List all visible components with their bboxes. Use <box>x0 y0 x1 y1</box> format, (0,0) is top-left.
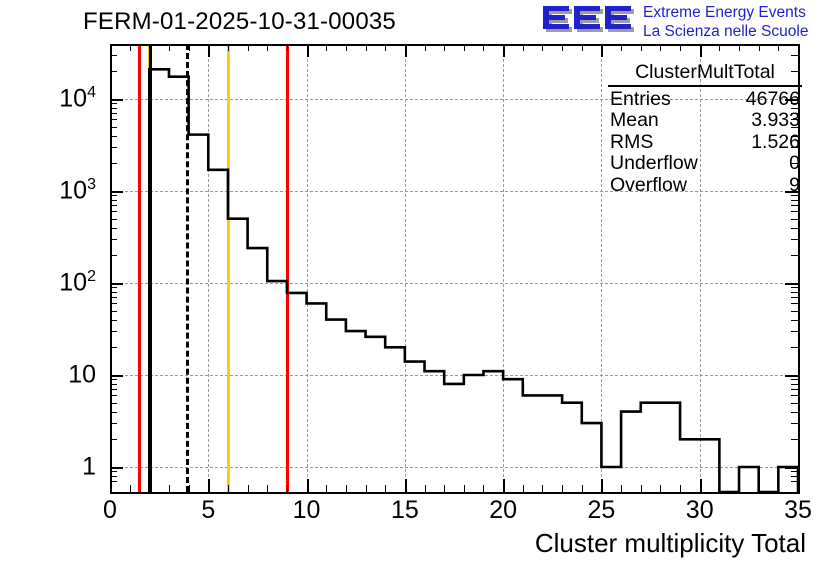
x-tick-top-minor <box>248 44 249 51</box>
x-tick-top-minor <box>778 44 779 51</box>
y-tick-minor <box>110 311 117 312</box>
y-tick-major <box>110 375 123 377</box>
y-tick-right-minor <box>791 481 798 482</box>
stats-value: 9 <box>789 175 800 197</box>
y-tick-right-minor <box>791 320 798 321</box>
x-tick-minor <box>267 485 268 492</box>
x-tick-top-minor <box>582 44 583 51</box>
root-canvas: FERM-01-2025-10-31-00035 <box>0 0 836 572</box>
y-tick-minor <box>110 205 117 206</box>
y-tick-right-minor <box>791 200 798 201</box>
axis-left <box>110 44 112 494</box>
y-tick-major <box>110 191 123 193</box>
eee-logo-line1: Extreme Energy Events <box>643 3 808 22</box>
eee-mark-icon <box>541 2 637 38</box>
y-tick-minor <box>110 147 117 148</box>
x-tick-top-minor <box>346 44 347 51</box>
x-tick-top-minor <box>641 44 642 51</box>
x-tick-minor <box>169 485 170 492</box>
y-tick-right-minor <box>791 219 798 220</box>
x-tick-minor <box>130 485 131 492</box>
x-tick-top-minor <box>189 44 190 51</box>
y-tick-minor <box>110 412 117 413</box>
x-tick-minor <box>228 485 229 492</box>
stats-value: 46766 <box>746 89 800 111</box>
y-tick-minor <box>110 239 117 240</box>
x-tick-label: 10 <box>293 496 321 525</box>
y-tick-right-minor <box>791 476 798 477</box>
stats-value: 1.526 <box>751 132 800 154</box>
x-tick-minor <box>425 485 426 492</box>
x-tick-label: 0 <box>103 496 117 525</box>
x-tick-minor <box>542 485 543 492</box>
y-tick-right-minor <box>791 287 798 288</box>
x-tick-major <box>798 479 800 492</box>
x-tick-top-minor <box>366 44 367 51</box>
x-tick-label: 5 <box>201 496 215 525</box>
eee-logo-line2: La Scienza nelle Scuole <box>643 22 808 41</box>
y-tick-right-major <box>785 283 798 285</box>
x-tick-label: 25 <box>588 496 616 525</box>
y-tick-right-minor <box>791 471 798 472</box>
y-tick-right-minor <box>791 384 798 385</box>
y-tick-minor <box>110 195 117 196</box>
x-tick-minor <box>523 485 524 492</box>
y-tick-minor <box>110 384 117 385</box>
y-tick-right-minor <box>791 297 798 298</box>
y-tick-label: 1 <box>82 453 96 482</box>
x-tick-minor <box>444 485 445 492</box>
y-tick-right-minor <box>791 389 798 390</box>
x-tick-top-minor <box>739 44 740 51</box>
y-tick-minor <box>110 200 117 201</box>
stats-key: Entries <box>610 89 671 111</box>
y-tick-minor <box>110 303 117 304</box>
y-tick-minor <box>110 55 117 56</box>
x-tick-top-minor <box>287 44 288 51</box>
x-tick-label: 30 <box>686 496 714 525</box>
stats-row: RMS1.526 <box>608 132 802 154</box>
x-tick-major <box>503 479 505 492</box>
x-tick-minor <box>719 485 720 492</box>
y-tick-right-minor <box>791 331 798 332</box>
x-tick-minor <box>739 485 740 492</box>
stats-key: RMS <box>610 132 653 154</box>
stats-rows: Entries46766Mean3.933RMS1.526Underflow0O… <box>608 89 802 197</box>
y-tick-right-minor <box>791 255 798 256</box>
x-tick-major <box>405 479 407 492</box>
y-tick-minor <box>110 439 117 440</box>
x-tick-top-minor <box>562 44 563 51</box>
stats-key: Overflow <box>610 175 687 197</box>
x-tick-minor <box>189 485 190 492</box>
y-tick-right-minor <box>791 239 798 240</box>
x-tick-top-major <box>307 44 309 57</box>
y-tick-right-minor <box>791 347 798 348</box>
y-tick-minor <box>110 113 117 114</box>
x-tick-major <box>700 479 702 492</box>
x-tick-minor <box>660 485 661 492</box>
y-tick-right-minor <box>791 205 798 206</box>
y-tick-minor <box>110 119 117 120</box>
y-tick-minor <box>110 255 117 256</box>
y-tick-minor <box>110 389 117 390</box>
page-title: FERM-01-2025-10-31-00035 <box>83 8 396 36</box>
y-tick-minor <box>110 103 117 104</box>
x-tick-top-minor <box>169 44 170 51</box>
eee-logo-text: Extreme Energy Events La Scienza nelle S… <box>643 3 808 41</box>
y-tick-label: 104 <box>59 85 96 114</box>
y-tick-minor <box>110 423 117 424</box>
stats-row: Entries46766 <box>608 89 802 111</box>
y-tick-minor <box>110 211 117 212</box>
x-tick-top-minor <box>267 44 268 51</box>
x-tick-minor <box>464 485 465 492</box>
y-tick-minor <box>110 127 117 128</box>
x-tick-top-minor <box>680 44 681 51</box>
stats-row: Underflow0 <box>608 153 802 175</box>
x-tick-top-minor <box>719 44 720 51</box>
x-tick-top-minor <box>523 44 524 51</box>
x-tick-top-minor <box>660 44 661 51</box>
x-tick-top-major <box>700 44 702 57</box>
y-tick-minor <box>110 476 117 477</box>
x-tick-top-major <box>208 44 210 57</box>
y-tick-right-minor <box>791 303 798 304</box>
x-tick-minor <box>287 485 288 492</box>
y-tick-major <box>110 283 123 285</box>
y-tick-right-minor <box>791 412 798 413</box>
y-tick-label: 10 <box>68 361 96 390</box>
x-tick-top-minor <box>385 44 386 51</box>
y-tick-minor <box>110 395 117 396</box>
y-tick-minor <box>110 292 117 293</box>
y-tick-right-major <box>785 467 798 469</box>
y-tick-minor <box>110 403 117 404</box>
y-tick-minor <box>110 71 117 72</box>
y-tick-minor <box>110 108 117 109</box>
x-tick-minor <box>346 485 347 492</box>
x-tick-minor <box>778 485 779 492</box>
x-tick-minor <box>385 485 386 492</box>
y-tick-right-minor <box>791 311 798 312</box>
x-tick-top-minor <box>130 44 131 51</box>
y-tick-minor <box>110 331 117 332</box>
x-tick-top-minor <box>464 44 465 51</box>
x-tick-top-minor <box>149 44 150 51</box>
y-tick-right-minor <box>791 379 798 380</box>
y-tick-minor <box>110 219 117 220</box>
y-tick-minor <box>110 481 117 482</box>
y-tick-minor <box>110 347 117 348</box>
x-tick-label: 15 <box>391 496 419 525</box>
stats-value: 3.933 <box>751 110 800 132</box>
x-tick-minor <box>621 485 622 492</box>
x-tick-top-minor <box>326 44 327 51</box>
x-tick-minor <box>483 485 484 492</box>
x-tick-top-minor <box>542 44 543 51</box>
y-tick-minor <box>110 136 117 137</box>
x-tick-top-major <box>405 44 407 57</box>
x-tick-top-minor <box>444 44 445 51</box>
stats-row: Mean3.933 <box>608 110 802 132</box>
x-tick-major <box>208 479 210 492</box>
y-tick-right-minor <box>791 55 798 56</box>
stats-box: ClusterMultTotal Entries46766Mean3.933RM… <box>608 62 802 196</box>
x-tick-top-minor <box>483 44 484 51</box>
x-tick-label: 20 <box>489 496 517 525</box>
y-tick-right-minor <box>791 395 798 396</box>
y-tick-label: 102 <box>59 269 96 298</box>
x-tick-label: 35 <box>784 496 812 525</box>
y-tick-minor <box>110 297 117 298</box>
y-tick-minor <box>110 163 117 164</box>
stats-key: Underflow <box>610 153 698 175</box>
y-tick-right-minor <box>791 423 798 424</box>
x-tick-minor <box>149 485 150 492</box>
y-tick-minor <box>110 287 117 288</box>
x-tick-top-major <box>601 44 603 57</box>
y-tick-right-minor <box>791 292 798 293</box>
y-tick-minor <box>110 320 117 321</box>
stats-key: Mean <box>610 110 659 132</box>
x-tick-top-major <box>503 44 505 57</box>
y-tick-right-minor <box>791 228 798 229</box>
x-tick-top-minor <box>759 44 760 51</box>
y-tick-right-minor <box>791 403 798 404</box>
x-tick-minor <box>562 485 563 492</box>
stats-value: 0 <box>789 153 800 175</box>
x-tick-major <box>601 479 603 492</box>
axis-top <box>110 44 800 46</box>
x-tick-minor <box>248 485 249 492</box>
y-tick-right-major <box>785 375 798 377</box>
x-tick-minor <box>326 485 327 492</box>
x-tick-top-minor <box>425 44 426 51</box>
stats-row: Overflow9 <box>608 175 802 197</box>
x-tick-top-minor <box>621 44 622 51</box>
y-tick-major <box>110 99 123 101</box>
x-tick-major <box>307 479 309 492</box>
y-tick-label: 103 <box>59 177 96 206</box>
x-tick-minor <box>680 485 681 492</box>
y-tick-minor <box>110 228 117 229</box>
x-tick-top-major <box>798 44 800 57</box>
y-tick-right-minor <box>791 439 798 440</box>
x-axis-title: Cluster multiplicity Total <box>535 528 806 559</box>
y-tick-right-minor <box>791 211 798 212</box>
y-tick-major <box>110 467 123 469</box>
x-tick-minor <box>366 485 367 492</box>
axis-bottom <box>110 492 800 494</box>
stats-name: ClusterMultTotal <box>608 62 802 87</box>
x-tick-minor <box>582 485 583 492</box>
y-tick-minor <box>110 379 117 380</box>
x-tick-top-minor <box>228 44 229 51</box>
eee-logo: Extreme Energy Events La Scienza nelle S… <box>541 2 835 42</box>
x-tick-minor <box>641 485 642 492</box>
x-tick-minor <box>759 485 760 492</box>
y-tick-minor <box>110 471 117 472</box>
